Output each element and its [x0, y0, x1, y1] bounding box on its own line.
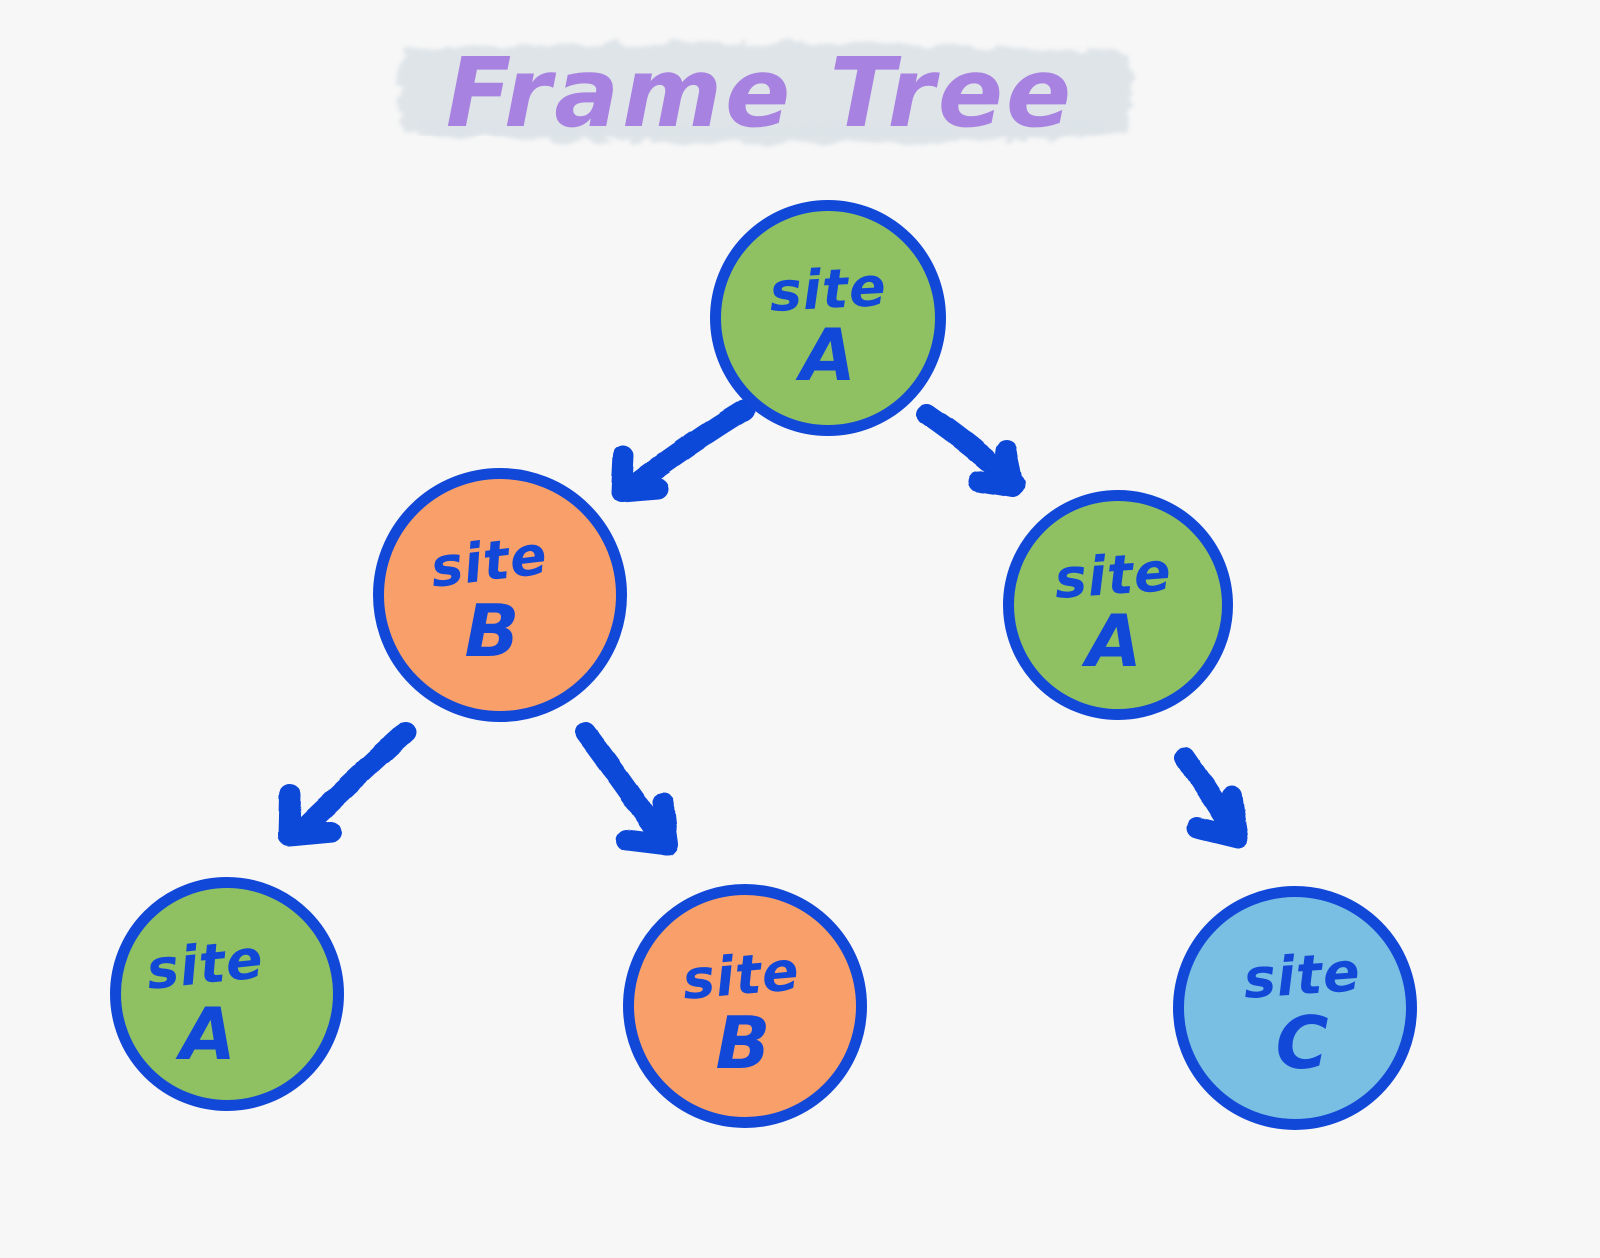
node-label-letter: C [1198, 1007, 1406, 1079]
node-label-letter: B [368, 595, 616, 667]
node-label-letter: A [83, 998, 333, 1070]
node-label-letter: B [630, 1007, 856, 1079]
edge-siteB-to-siteB [586, 733, 668, 845]
edge-root-to-siteB [622, 410, 744, 492]
node-site-b-left[interactable]: site B [373, 468, 627, 722]
edge-siteA-to-siteC [1185, 757, 1238, 838]
frame-tree-diagram: Frame Tree [0, 0, 1600, 1258]
node-site-c-bottom-right[interactable]: site C [1173, 886, 1417, 1130]
node-label-letter: A [721, 319, 935, 391]
title-text: Frame Tree [360, 18, 1160, 168]
edge-root-to-siteA-right [927, 414, 1015, 487]
node-label-letter: A [1006, 605, 1222, 677]
node-site-b-bottom-middle[interactable]: site B [623, 884, 867, 1128]
edge-siteB-to-siteA [289, 732, 406, 836]
diagram-title: Frame Tree [360, 18, 1160, 168]
node-site-a-root[interactable]: site A [710, 200, 946, 436]
node-site-a-bottom-left[interactable]: site A [110, 877, 344, 1111]
node-site-a-right[interactable]: site A [1003, 490, 1233, 720]
